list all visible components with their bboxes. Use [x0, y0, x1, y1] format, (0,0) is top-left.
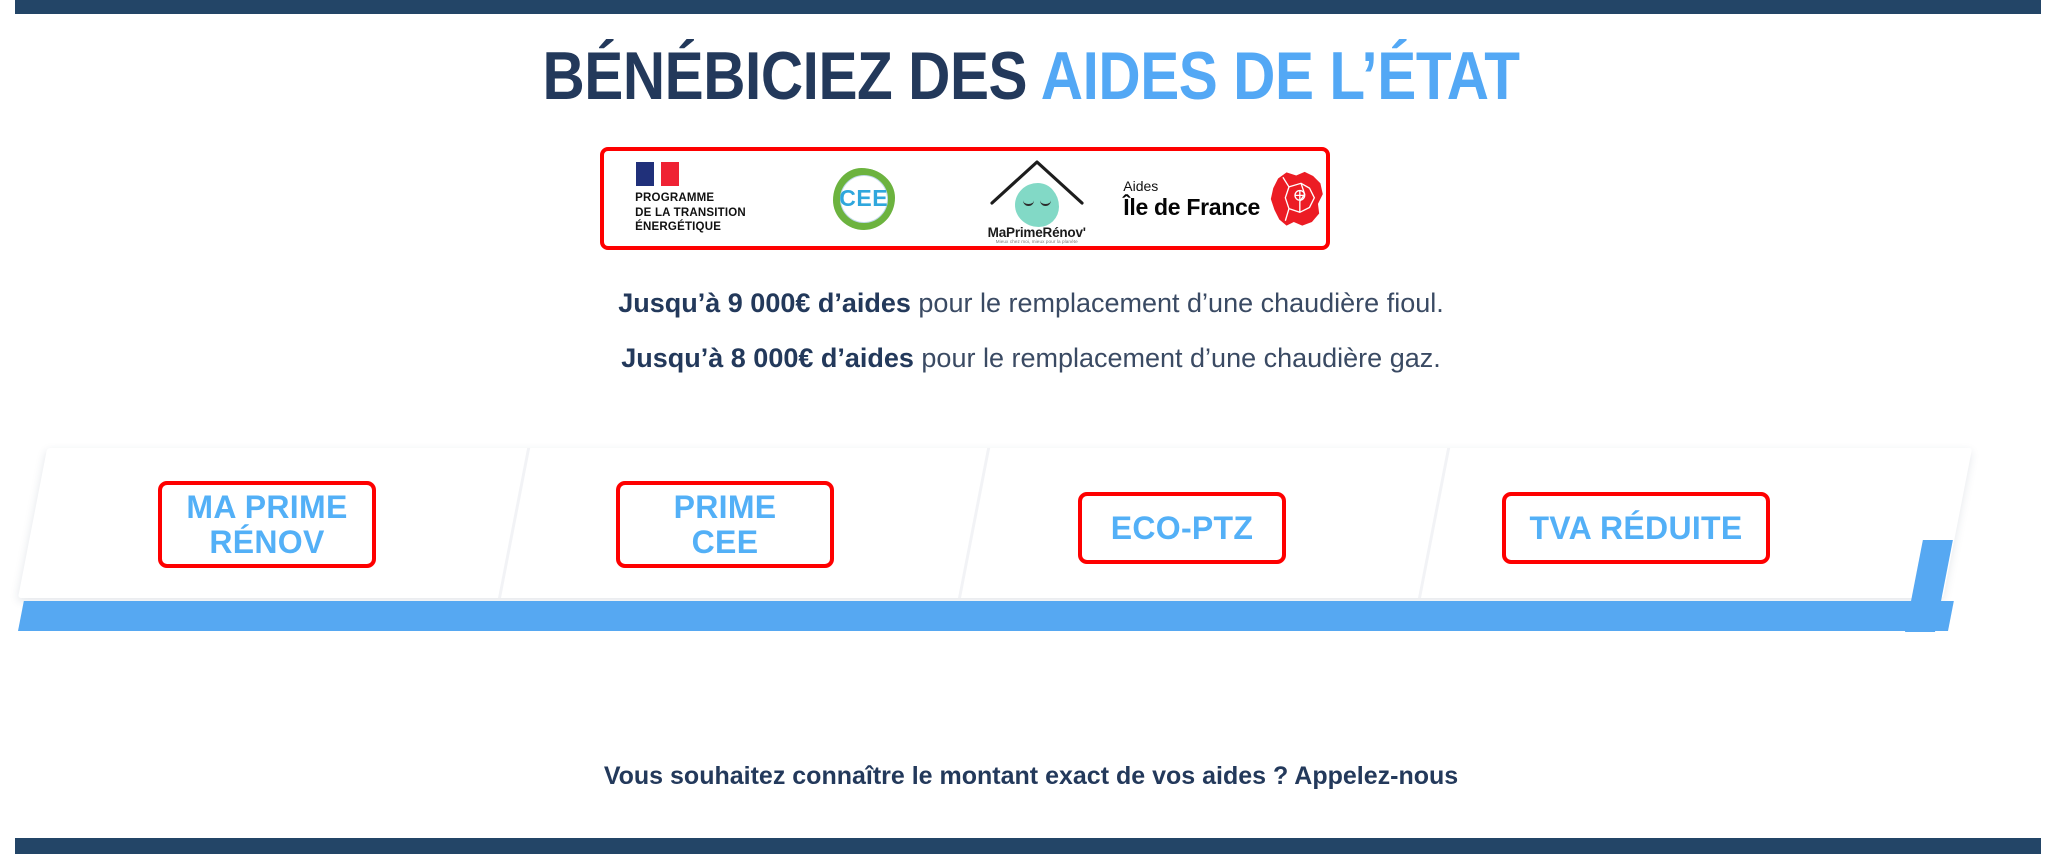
french-flag-icon	[636, 162, 679, 186]
maprimerenov-tagline: Mieux chez moi, mieux pour la planète	[972, 239, 1102, 244]
maprimerenov-logo: MaPrimeRénov' Mieux chez moi, mieux pour…	[972, 155, 1102, 243]
cee-logo: CEE	[833, 168, 895, 230]
aid-box-tva-reduite-label: TVA RÉDUITE	[1529, 511, 1742, 546]
aid-box-prime-cee-label: PRIMECEE	[674, 490, 777, 559]
aid-line-gaz-bold: Jusqu’à 8 000€ d’aides	[621, 343, 914, 373]
aid-box-tva-reduite[interactable]: TVA RÉDUITE	[1502, 492, 1770, 564]
programme-line-1: PROGRAMME	[635, 191, 746, 205]
ribbon-blue-bar	[18, 601, 1954, 631]
idf-small-label: Aides	[1123, 179, 1158, 193]
cee-logo-label: CEE	[839, 187, 888, 210]
ribbon-separator	[498, 448, 530, 598]
bottom-divider-bar	[15, 838, 2041, 854]
partner-logos-strip: PROGRAMME DE LA TRANSITION ÉNERGÉTIQUE C…	[600, 147, 1330, 250]
page-root: BÉNÉBICIEZ DES AIDES DE L’ÉTAT PROGRAMME…	[0, 0, 2062, 854]
logo-cell-programme: PROGRAMME DE LA TRANSITION ÉNERGÉTIQUE	[604, 151, 777, 246]
aid-line-fioul-bold: Jusqu’à 9 000€ d’aides	[618, 288, 911, 318]
maprimerenov-face-icon	[1015, 183, 1059, 227]
page-title: BÉNÉBICIEZ DES AIDES DE L’ÉTAT	[144, 42, 1917, 110]
aid-box-ma-prime-renov[interactable]: MA PRIMERÉNOV	[158, 481, 376, 568]
programme-line-3: ÉNERGÉTIQUE	[635, 220, 746, 234]
aid-line-fioul-rest: pour le remplacement d’une chaudière fio…	[911, 288, 1444, 318]
maprimerenov-label: MaPrimeRénov'	[972, 225, 1102, 240]
programme-logo-text: PROGRAMME DE LA TRANSITION ÉNERGÉTIQUE	[635, 191, 746, 234]
page-title-light: AIDES DE L’ÉTAT	[1041, 38, 1520, 114]
page-title-dark: BÉNÉBICIEZ DES	[542, 38, 1040, 114]
aid-line-gaz: Jusqu’à 8 000€ d’aides pour le remplacem…	[0, 343, 2062, 374]
logo-cell-iledefrance: Aides Île de France	[1123, 151, 1326, 246]
aid-categories-ribbon: MA PRIMERÉNOV + PRIMECEE + ECO-PTZ + TVA…	[0, 448, 2062, 668]
ribbon-separator	[958, 448, 990, 598]
aides-ile-de-france-logo: Aides Île de France	[1123, 170, 1326, 228]
aid-box-eco-ptz-label: ECO-PTZ	[1111, 511, 1254, 546]
ile-de-france-map-icon	[1264, 170, 1326, 228]
aid-box-ma-prime-renov-label: MA PRIMERÉNOV	[186, 490, 347, 559]
contact-question: Vous souhaitez connaître le montant exac…	[0, 762, 2062, 791]
aid-box-eco-ptz[interactable]: ECO-PTZ	[1078, 492, 1286, 564]
aid-box-prime-cee[interactable]: PRIMECEE	[616, 481, 834, 568]
programme-transition-energetique-logo: PROGRAMME DE LA TRANSITION ÉNERGÉTIQUE	[635, 162, 746, 234]
ribbon-separator	[1418, 448, 1450, 598]
logo-cell-maprimerenov: MaPrimeRénov' Mieux chez moi, mieux pour…	[950, 151, 1123, 246]
logo-cell-cee: CEE	[777, 151, 950, 246]
idf-big-label: Île de France	[1123, 196, 1260, 219]
aid-line-gaz-rest: pour le remplacement d’une chaudière gaz…	[914, 343, 1441, 373]
top-divider-bar	[15, 0, 2041, 14]
programme-line-2: DE LA TRANSITION	[635, 206, 746, 220]
aid-line-fioul: Jusqu’à 9 000€ d’aides pour le remplacem…	[0, 288, 2062, 319]
